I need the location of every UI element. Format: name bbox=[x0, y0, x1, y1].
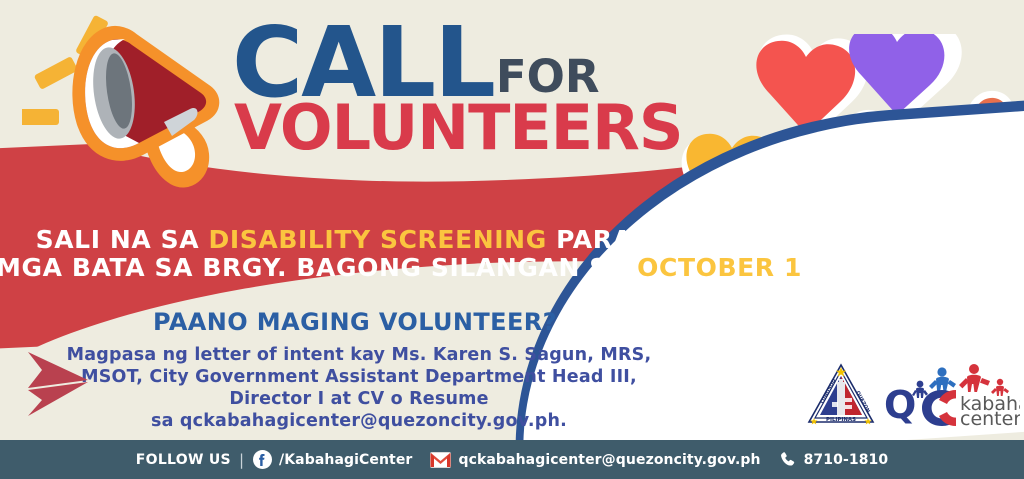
howto-body-line: Magpasa ng letter of intent kay Ms. Kare… bbox=[0, 344, 718, 366]
arrow-right-icon bbox=[22, 348, 102, 420]
phone-icon bbox=[779, 451, 797, 469]
follow-us-label: FOLLOW US bbox=[136, 452, 231, 468]
poster-canvas: CALL FOR VOLUNTEERS SALI NA SA DISABILIT… bbox=[0, 0, 1024, 479]
banner-line-1: SALI NA SA DISABILITY SCREENING PARA SA bbox=[0, 226, 716, 254]
banner-line1-highlight: DISABILITY SCREENING bbox=[209, 225, 547, 254]
howto-title: PAANO MAGING VOLUNTEER? bbox=[0, 308, 710, 336]
qc-kabahagi-center-logo: Q kabahagi center bbox=[884, 360, 1020, 428]
megaphone-icon bbox=[22, 14, 232, 194]
headline-block: CALL FOR VOLUNTEERS bbox=[232, 22, 702, 192]
email-address: qckabahagicenter@quezoncity.gov.ph bbox=[458, 452, 760, 468]
howto-body-line: sa qckabahagicenter@quezoncity.gov.ph. bbox=[0, 410, 718, 432]
phone-number: 8710-1810 bbox=[804, 452, 889, 468]
svg-text:Q: Q bbox=[884, 383, 916, 427]
banner-line1-part2: PARA SA bbox=[547, 225, 681, 254]
quezon-city-seal-logo: LUNGSOD QUEZON PILIPINAS bbox=[806, 362, 876, 428]
headline-volunteers: VOLUNTEERS bbox=[234, 99, 702, 158]
howto-body: Magpasa ng letter of intent kay Ms. Kare… bbox=[0, 344, 718, 432]
svg-text:PILIPINAS: PILIPINAS bbox=[826, 417, 856, 423]
banner-line2-part1: MGA BATA SA BRGY. BAGONG SILANGAN SA bbox=[0, 253, 637, 282]
banner-line-2: MGA BATA SA BRGY. BAGONG SILANGAN SA OCT… bbox=[0, 254, 712, 282]
banner-text-block: SALI NA SA DISABILITY SCREENING PARA SA … bbox=[0, 226, 716, 282]
heart-purple bbox=[849, 34, 962, 117]
howto-body-line: MSOT, City Government Assistant Departme… bbox=[0, 366, 718, 388]
email-link[interactable]: qckabahagicenter@quezoncity.gov.ph bbox=[430, 452, 760, 468]
footer-bar: FOLLOW US | /KabahagiCenter bbox=[0, 440, 1024, 479]
facebook-icon bbox=[253, 450, 272, 469]
footer-separator: | bbox=[239, 451, 244, 469]
howto-body-line: Director I at CV o Resume bbox=[0, 388, 718, 410]
facebook-handle: /KabahagiCenter bbox=[279, 452, 412, 468]
gmail-icon bbox=[430, 452, 451, 468]
center-word: center bbox=[960, 408, 1020, 428]
banner-line2-highlight: OCTOBER 1 bbox=[637, 253, 802, 282]
banner-line1-part1: SALI NA SA bbox=[36, 225, 209, 254]
headline-for: FOR bbox=[496, 58, 600, 96]
phone-link[interactable]: 8710-1810 bbox=[779, 451, 889, 469]
facebook-link[interactable]: /KabahagiCenter bbox=[253, 450, 412, 469]
